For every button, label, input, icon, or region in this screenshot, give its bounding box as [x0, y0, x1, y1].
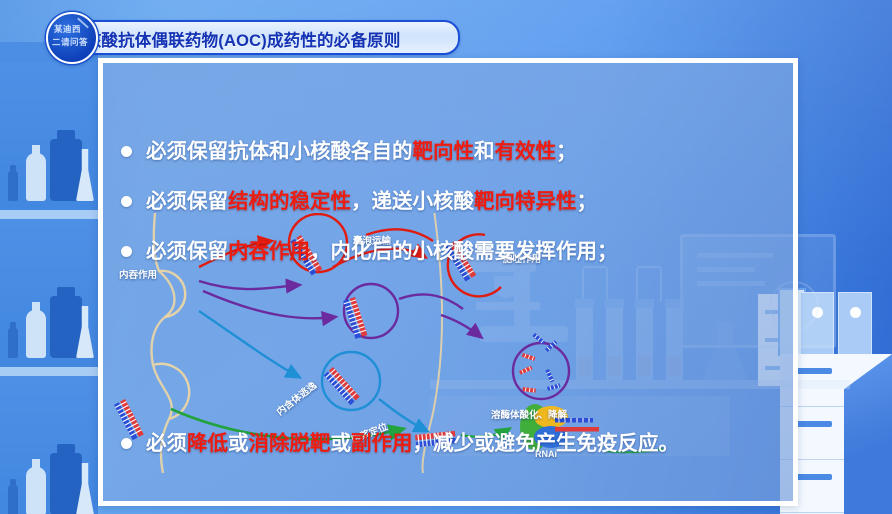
arrow-lysosome-link: [399, 294, 463, 309]
plain-text: 必须: [146, 432, 187, 455]
bullet-text-3: 必须保留内吞作用，内化后的小核酸需要发挥作用；: [146, 239, 618, 265]
shelf-row: [0, 62, 98, 219]
arrow-to-degradation: [441, 315, 481, 337]
arrow-lysosome-in: [199, 281, 299, 289]
highlighted-text: 内吞作用: [228, 240, 310, 263]
shelf-row: [0, 376, 98, 514]
highlighted-text: 副作用: [351, 432, 413, 455]
page-title: 小核酸抗体偶联药物(AOC)成药性的必备原则: [68, 27, 458, 51]
plain-text: 和: [474, 140, 495, 163]
bullet-text-4: 必须降低或消除脱靶或副作用，减少或避免产生免疫反应。: [146, 431, 679, 457]
bullet-item-4: 必须降低或消除脱靶或副作用，减少或避免产生免疫反应。: [121, 431, 679, 457]
bullet-item-1: 必须保留抗体和小核酸各自的靶向性和有效性；: [121, 139, 577, 165]
highlighted-text: 消除脱靶: [249, 432, 331, 455]
highlighted-text: 有效性: [495, 140, 557, 163]
slide-stage: 小核酸抗体偶联药物(AOC)成药性的必备原则 某迪西 二请问答: [0, 0, 892, 514]
bullet-item-2: 必须保留结构的稳定性，递送小核酸靶向特异性；: [121, 189, 597, 215]
plain-text: ，内化后的小核酸需要发挥作用；: [310, 240, 618, 263]
shelf-row: [0, 219, 98, 376]
bullet-item-3: 必须保留内吞作用，内化后的小核酸需要发挥作用；: [121, 239, 618, 265]
bullet-dot-icon: [121, 146, 132, 157]
plain-text: 必须保留: [146, 190, 228, 213]
plain-text: ；: [577, 190, 598, 213]
plain-text: 必须保留: [146, 240, 228, 263]
label-endocytosis: 内吞作用: [119, 267, 157, 281]
bullet-dot-icon: [121, 438, 132, 449]
highlighted-text: 靶向性: [413, 140, 475, 163]
bullet-dot-icon: [121, 246, 132, 257]
arrow-to-lysosome: [203, 291, 335, 318]
arrow-endosome: [199, 311, 299, 377]
highlighted-text: 结构的稳定性: [228, 190, 351, 213]
background-shelf-unit: [0, 42, 98, 514]
bullet-text-1: 必须保留抗体和小核酸各自的靶向性和有效性；: [146, 139, 577, 165]
logo-line-1: 某迪西: [54, 25, 81, 34]
highlighted-text: 靶向特异性: [474, 190, 577, 213]
bullet-dot-icon: [121, 196, 132, 207]
plain-text: 或: [228, 432, 249, 455]
plain-text: ，减少或避免产生免疫反应。: [413, 432, 680, 455]
logo-line-2: 二请问答: [52, 38, 88, 47]
plain-text: 或: [331, 432, 352, 455]
highlighted-text: 降低: [187, 432, 228, 455]
plain-text: ；: [556, 140, 577, 163]
bullet-text-2: 必须保留结构的稳定性，递送小核酸靶向特异性；: [146, 189, 597, 215]
brand-logo: 某迪西 二请问答: [46, 12, 98, 64]
plain-text: 必须保留抗体和小核酸各自的: [146, 140, 413, 163]
plain-text: ，递送小核酸: [351, 190, 474, 213]
label-lysosome: 溶酶体酸化、降解: [491, 407, 567, 421]
content-panel: 内吞作用 囊泡运输 胞吐作用 溶酶体酸化、降解 内含体逃逸 胞浆定位 RNAi …: [98, 58, 798, 506]
